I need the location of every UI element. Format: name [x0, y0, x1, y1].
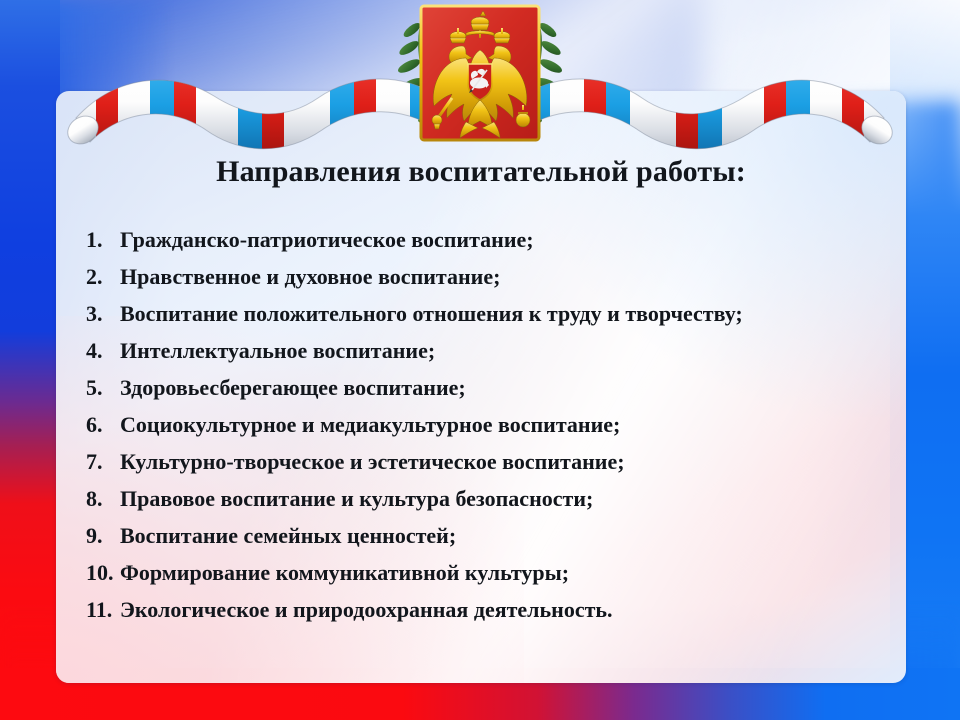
list-item-label: Экологическое и природоохранная деятельн…: [120, 591, 613, 628]
list-item-label: Формирование коммуникативной культуры;: [120, 554, 569, 591]
list-item-label: Нравственное и духовное воспитание;: [120, 258, 500, 295]
list-item-label: Интеллектуальное воспитание;: [120, 332, 435, 369]
list-item-label: Здоровьесберегающее воспитание;: [120, 369, 466, 406]
directions-list: 1.Гражданско-патриотическое воспитание;2…: [86, 221, 886, 628]
list-item: 10.Формирование коммуникативной культуры…: [86, 554, 886, 591]
list-item-label: Воспитание положительного отношения к тр…: [120, 295, 743, 332]
list-item: 1.Гражданско-патриотическое воспитание;: [86, 221, 886, 258]
page-title: Направления воспитательной работы:: [56, 155, 906, 189]
list-item-number: 11.: [86, 591, 120, 628]
list-item-number: 5.: [86, 369, 120, 406]
list-item: 9.Воспитание семейных ценностей;: [86, 517, 886, 554]
list-item: 4.Интеллектуальное воспитание;: [86, 332, 886, 369]
list-item-number: 6.: [86, 406, 120, 443]
list-item: 5.Здоровьесберегающее воспитание;: [86, 369, 886, 406]
list-item-number: 8.: [86, 480, 120, 517]
list-item-label: Правовое воспитание и культура безопасно…: [120, 480, 593, 517]
list-item-number: 10.: [86, 554, 120, 591]
list-item-number: 2.: [86, 258, 120, 295]
content-panel: Направления воспитательной работы: 1.Гра…: [56, 91, 906, 683]
list-item: 2.Нравственное и духовное воспитание;: [86, 258, 886, 295]
list-item: 3.Воспитание положительного отношения к …: [86, 295, 886, 332]
list-item-number: 3.: [86, 295, 120, 332]
list-item-number: 1.: [86, 221, 120, 258]
list-item-label: Социокультурное и медиакультурное воспит…: [120, 406, 620, 443]
list-item-number: 9.: [86, 517, 120, 554]
list-item: 11.Экологическое и природоохранная деяте…: [86, 591, 886, 628]
list-item: 8.Правовое воспитание и культура безопас…: [86, 480, 886, 517]
list-item: 7.Культурно-творческое и эстетическое во…: [86, 443, 886, 480]
list-item-label: Гражданско-патриотическое воспитание;: [120, 221, 534, 258]
list-item-number: 4.: [86, 332, 120, 369]
list-item-number: 7.: [86, 443, 120, 480]
list-item-label: Культурно-творческое и эстетическое восп…: [120, 443, 625, 480]
list-item-label: Воспитание семейных ценностей;: [120, 517, 456, 554]
list-item: 6.Социокультурное и медиакультурное восп…: [86, 406, 886, 443]
